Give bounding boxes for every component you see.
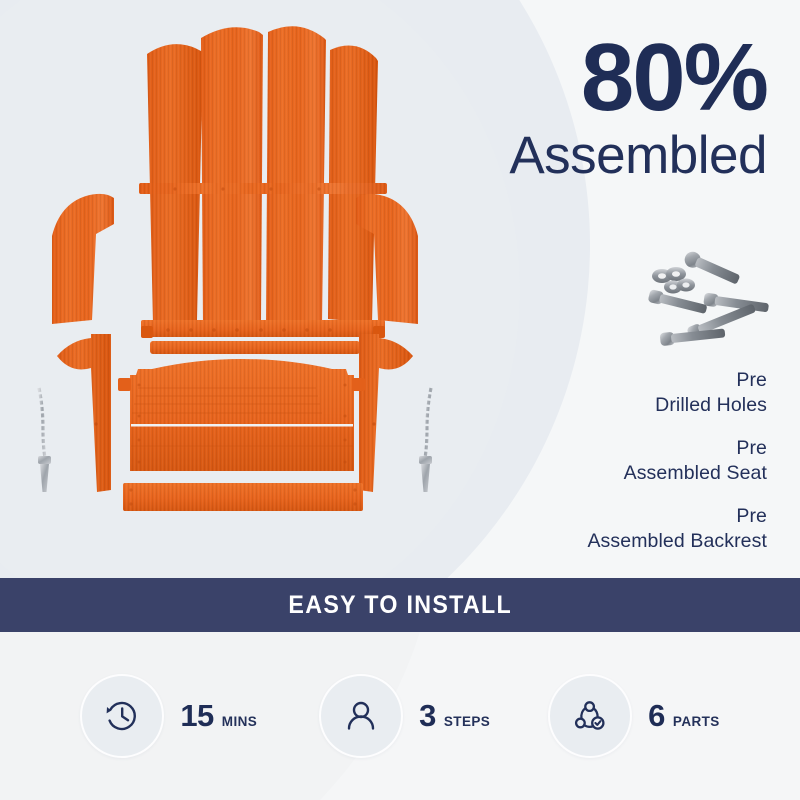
person-icon: [341, 696, 381, 736]
stat-value: 6: [648, 698, 665, 734]
feature-line1: Pre: [587, 504, 767, 529]
stat-icon-circle: [319, 674, 403, 758]
stat-unit: PARTS: [673, 714, 720, 729]
chair-parts-illustration: [0, 0, 470, 578]
left-side-leg: [57, 334, 111, 492]
connector-block-right: [352, 378, 365, 391]
feature-item-1: Pre Assembled Seat: [587, 436, 767, 486]
stat-icon-circle: [80, 674, 164, 758]
stat-icon-circle: [548, 674, 632, 758]
backrest-slat-group: [147, 26, 378, 325]
left-chain-hardware: [38, 388, 51, 492]
infographic-page: 80% Assembled: [0, 0, 800, 800]
stat-parts: 6 PARTS: [548, 674, 720, 758]
left-armrest: [52, 194, 114, 324]
feature-line1: Pre: [587, 436, 767, 461]
headline-block: 80% Assembled: [509, 34, 767, 184]
right-chain-hardware: [419, 388, 432, 492]
feature-line2: Assembled Seat: [587, 461, 767, 486]
front-rail: [123, 483, 363, 511]
stat-time: 15 MINS: [80, 674, 257, 758]
feature-item-2: Pre Assembled Backrest: [587, 504, 767, 554]
feature-line2: Drilled Holes: [587, 393, 767, 418]
seat-assembly: [130, 359, 354, 471]
stat-unit: STEPS: [444, 714, 490, 729]
stat-value: 15: [180, 698, 213, 734]
assembled-percent: 80%: [509, 34, 767, 122]
easy-to-install-banner: EASY TO INSTALL: [0, 578, 800, 632]
right-side-leg: [359, 334, 413, 492]
washer-group: [652, 267, 695, 294]
connector-block-left: [118, 378, 131, 391]
top-panel: 80% Assembled: [0, 0, 800, 578]
backrest-upper-rail: [139, 183, 387, 194]
backrest-lower-rail: [141, 320, 385, 338]
banner-text: EASY TO INSTALL: [288, 591, 512, 620]
support-rail: [150, 341, 360, 354]
bolts-and-washers-icon: [630, 243, 780, 355]
parts-network-check-icon: [570, 696, 610, 736]
stat-steps: 3 STEPS: [319, 674, 490, 758]
bolt-group: [648, 249, 770, 346]
stat-value: 3: [419, 698, 436, 734]
feature-line1: Pre: [587, 368, 767, 393]
feature-list: Pre Drilled Holes Pre Assembled Seat Pre…: [587, 368, 767, 572]
stat-unit: MINS: [222, 714, 257, 729]
stats-bar: 15 MINS 3 STEPS: [0, 632, 800, 800]
feature-item-0: Pre Drilled Holes: [587, 368, 767, 418]
feature-line2: Assembled Backrest: [587, 529, 767, 554]
clock-history-icon: [102, 696, 142, 736]
assembled-label: Assembled: [509, 128, 767, 184]
